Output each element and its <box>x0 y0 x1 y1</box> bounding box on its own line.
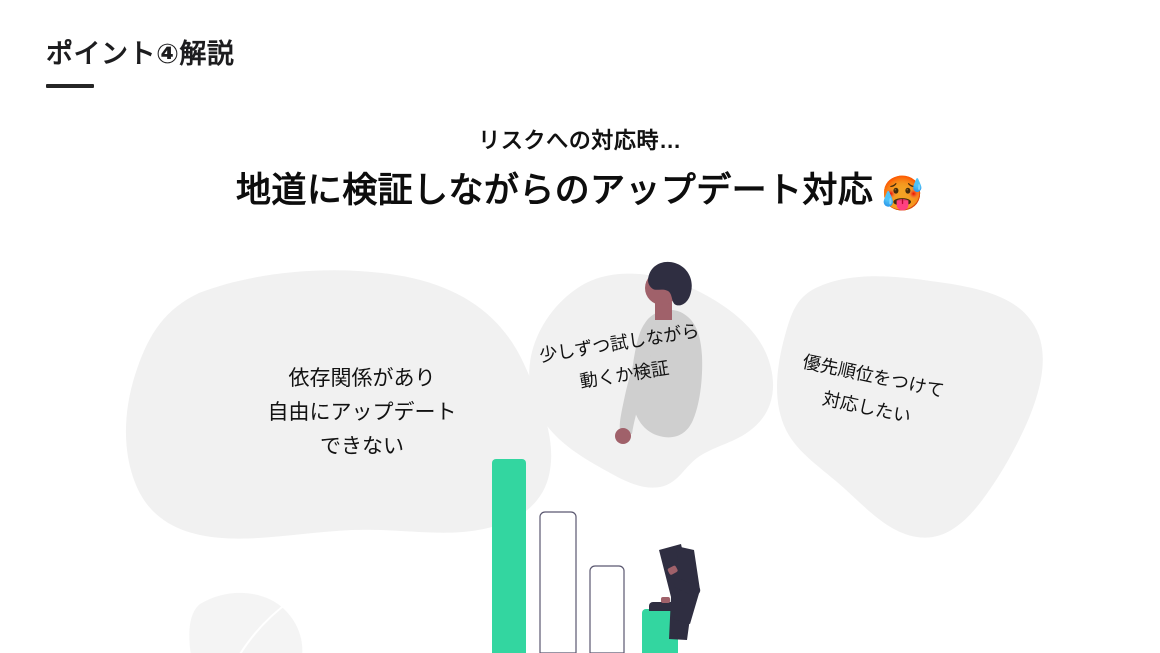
decorative-leaf <box>189 593 302 653</box>
page-title: ポイント④解説 <box>46 38 234 72</box>
slide-label-group: ポイント④解説 <box>46 38 234 72</box>
main-heading-text: 地道に検証しながらのアップデート対応 <box>236 171 873 210</box>
heading-group: リスクへの対応時… 地道に検証しながらのアップデート対応🥵 <box>0 126 1160 217</box>
subheading-text: リスクへの対応時… <box>0 126 1160 156</box>
illustration-stage: 依存関係があり 自由にアップデート できない 少しずつ試しながら 動くか検証 優… <box>0 260 1160 653</box>
title-underline-rule <box>46 84 94 88</box>
main-heading: 地道に検証しながらのアップデート対応🥵 <box>0 168 1160 217</box>
bar-outline-2 <box>590 566 624 653</box>
bar-green-tall <box>492 459 526 653</box>
caption-dependency: 依存関係があり 自由にアップデート できない <box>172 362 552 464</box>
hot-face-emoji: 🥵 <box>881 175 924 213</box>
slide-canvas: ポイント④解説 リスクへの対応時… 地道に検証しながらのアップデート対応🥵 <box>0 0 1160 653</box>
caption-line: 依存関係があり <box>172 362 552 396</box>
bar-outline-1 <box>540 512 576 653</box>
caption-line: 自由にアップデート <box>172 396 552 430</box>
caption-line: できない <box>172 430 552 464</box>
